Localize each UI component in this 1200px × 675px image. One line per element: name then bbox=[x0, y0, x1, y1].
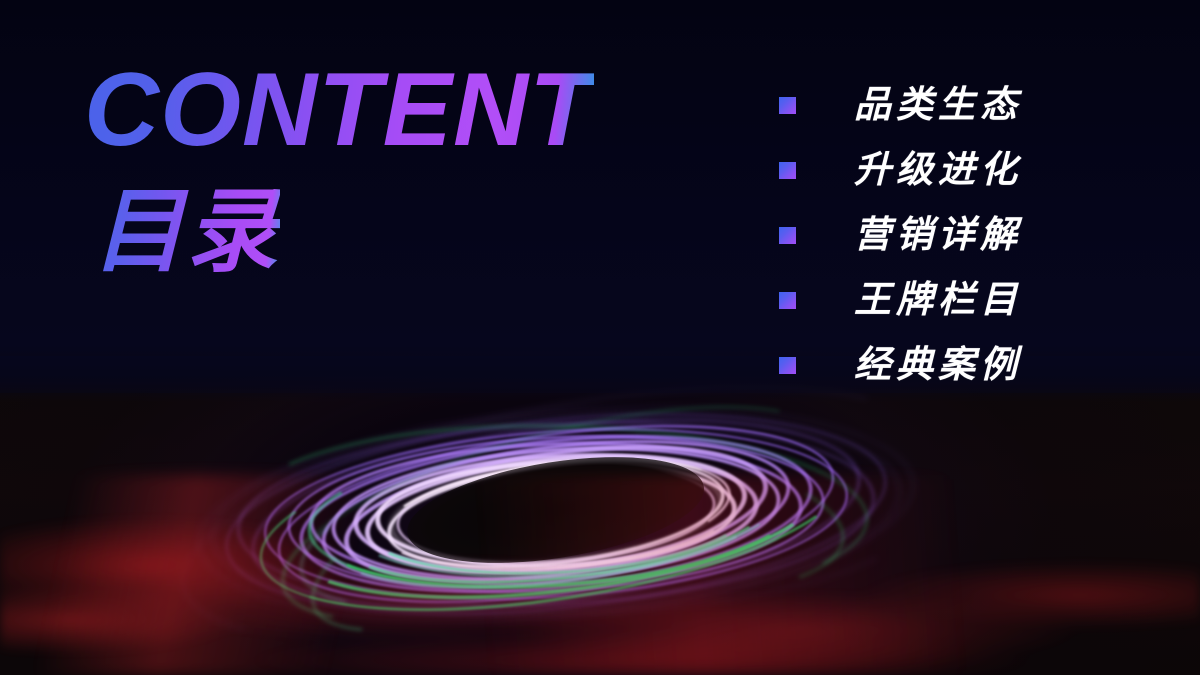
agenda-item-label: 升级进化 bbox=[854, 151, 1022, 188]
page-title-chinese: 目录 bbox=[92, 186, 280, 278]
agenda-item-2[interactable]: 升级进化 bbox=[779, 137, 1022, 202]
square-bullet-icon bbox=[779, 227, 796, 244]
agenda-item-label: 营销详解 bbox=[854, 216, 1022, 253]
square-bullet-icon bbox=[779, 357, 796, 374]
page-title-english: CONTENT bbox=[84, 58, 594, 162]
agenda-item-1[interactable]: 品类生态 bbox=[779, 72, 1022, 137]
square-bullet-icon bbox=[779, 97, 796, 114]
agenda-item-label: 王牌栏目 bbox=[854, 281, 1022, 318]
presentation-slide: CONTENT 目录 品类生态 升级进化 营销详解 王牌栏目 经典案例 bbox=[0, 0, 1200, 675]
agenda-item-4[interactable]: 王牌栏目 bbox=[779, 267, 1022, 332]
agenda-item-3[interactable]: 营销详解 bbox=[779, 202, 1022, 267]
agenda-item-label: 经典案例 bbox=[854, 346, 1022, 383]
red-smoke-wisps bbox=[0, 475, 1200, 675]
agenda-list: 品类生态 升级进化 营销详解 王牌栏目 经典案例 bbox=[779, 72, 1022, 397]
square-bullet-icon bbox=[779, 162, 796, 179]
agenda-item-5[interactable]: 经典案例 bbox=[779, 332, 1022, 397]
square-bullet-icon bbox=[779, 292, 796, 309]
agenda-item-label: 品类生态 bbox=[854, 86, 1022, 123]
